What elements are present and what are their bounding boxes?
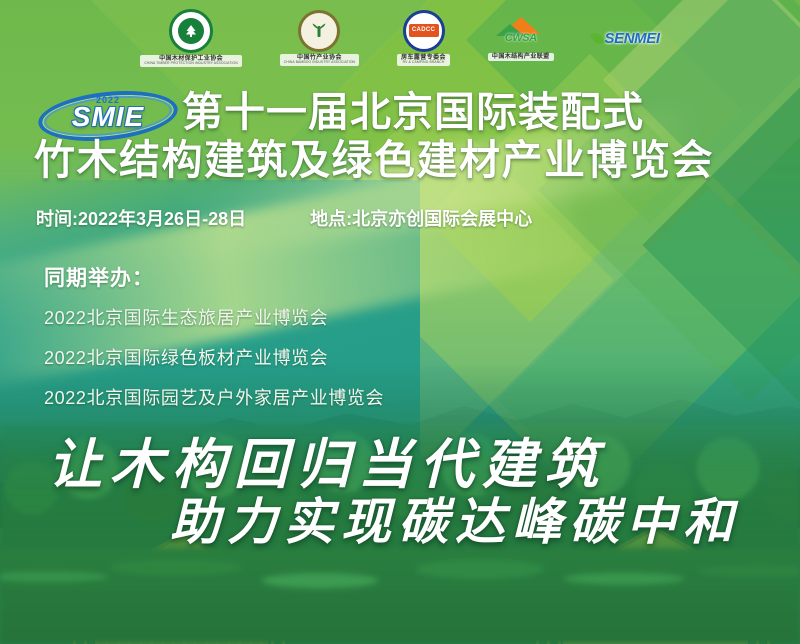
logo-caption: 中国竹产业协会 CHINA BAMBOO INDUSTRY ASSOCIATIO… bbox=[280, 54, 359, 67]
leaf-icon: SENMEI bbox=[592, 30, 660, 47]
sponsor-logo-strip: 中国木材保护工业协会 CHINA TIMBER PROTECTION INDUS… bbox=[0, 0, 800, 76]
concurrent-item: 2022北京国际绿色板材产业博览会 bbox=[44, 344, 384, 370]
concurrent-heading: 同期举办： bbox=[44, 262, 384, 292]
page-title-line1: 第十一届北京国际装配式 bbox=[182, 92, 792, 134]
event-meta: 时间:2022年3月26日-28日 地点:北京亦创国际会展中心 bbox=[36, 205, 532, 231]
tree-in-circle-icon bbox=[169, 9, 213, 53]
logo-caption: 中国木材保护工业协会 CHINA TIMBER PROTECTION INDUS… bbox=[140, 55, 241, 68]
bamboo-in-circle-icon bbox=[298, 10, 340, 52]
logo-caption: 房车露营专委会 RV & CAMPING BRANCH bbox=[397, 54, 450, 67]
slogan-line2: 助力实现碳达峰碳中和 bbox=[170, 482, 740, 554]
logo-senmei[interactable]: SENMEI bbox=[592, 30, 660, 47]
cwsa-abbr: CWSA bbox=[494, 32, 548, 44]
smie-wordmark: SMIE bbox=[38, 103, 178, 131]
logo-cadcc-rv-camping-committee[interactable]: CADCC 房车露营专委会 RV & CAMPING BRANCH bbox=[397, 10, 450, 67]
concurrent-events: 同期举办： 2022北京国际生态旅居产业博览会 2022北京国际绿色板材产业博览… bbox=[44, 262, 384, 424]
house-roof-icon: CWSA bbox=[494, 15, 548, 51]
cadcc-seal-icon: CADCC bbox=[403, 10, 445, 52]
concurrent-item: 2022北京国际生态旅居产业博览会 bbox=[44, 304, 384, 330]
logo-china-timber-protection-association[interactable]: 中国木材保护工业协会 CHINA TIMBER PROTECTION INDUS… bbox=[140, 9, 241, 68]
logo-bamboo-industry-association[interactable]: 中国竹产业协会 CHINA BAMBOO INDUSTRY ASSOCIATIO… bbox=[280, 10, 359, 67]
event-venue: 地点:北京亦创国际会展中心 bbox=[310, 205, 532, 231]
page-title-line2: 竹木结构建筑及绿色建材产业博览会 bbox=[34, 140, 794, 182]
senmei-wordmark: SENMEI bbox=[605, 30, 660, 47]
expo-poster: 中国木材保护工业协会 CHINA TIMBER PROTECTION INDUS… bbox=[0, 0, 800, 644]
logo-caption: 中国木结构产业联盟 bbox=[488, 53, 554, 62]
smie-logo[interactable]: 2022 SMIE bbox=[38, 92, 178, 140]
concurrent-item: 2022北京国际园艺及户外家居产业博览会 bbox=[44, 384, 384, 410]
logo-cwsa-wood-structure-alliance[interactable]: CWSA 中国木结构产业联盟 bbox=[488, 15, 554, 62]
event-date: 时间:2022年3月26日-28日 bbox=[36, 205, 246, 231]
cadcc-abbr: CADCC bbox=[409, 24, 439, 37]
